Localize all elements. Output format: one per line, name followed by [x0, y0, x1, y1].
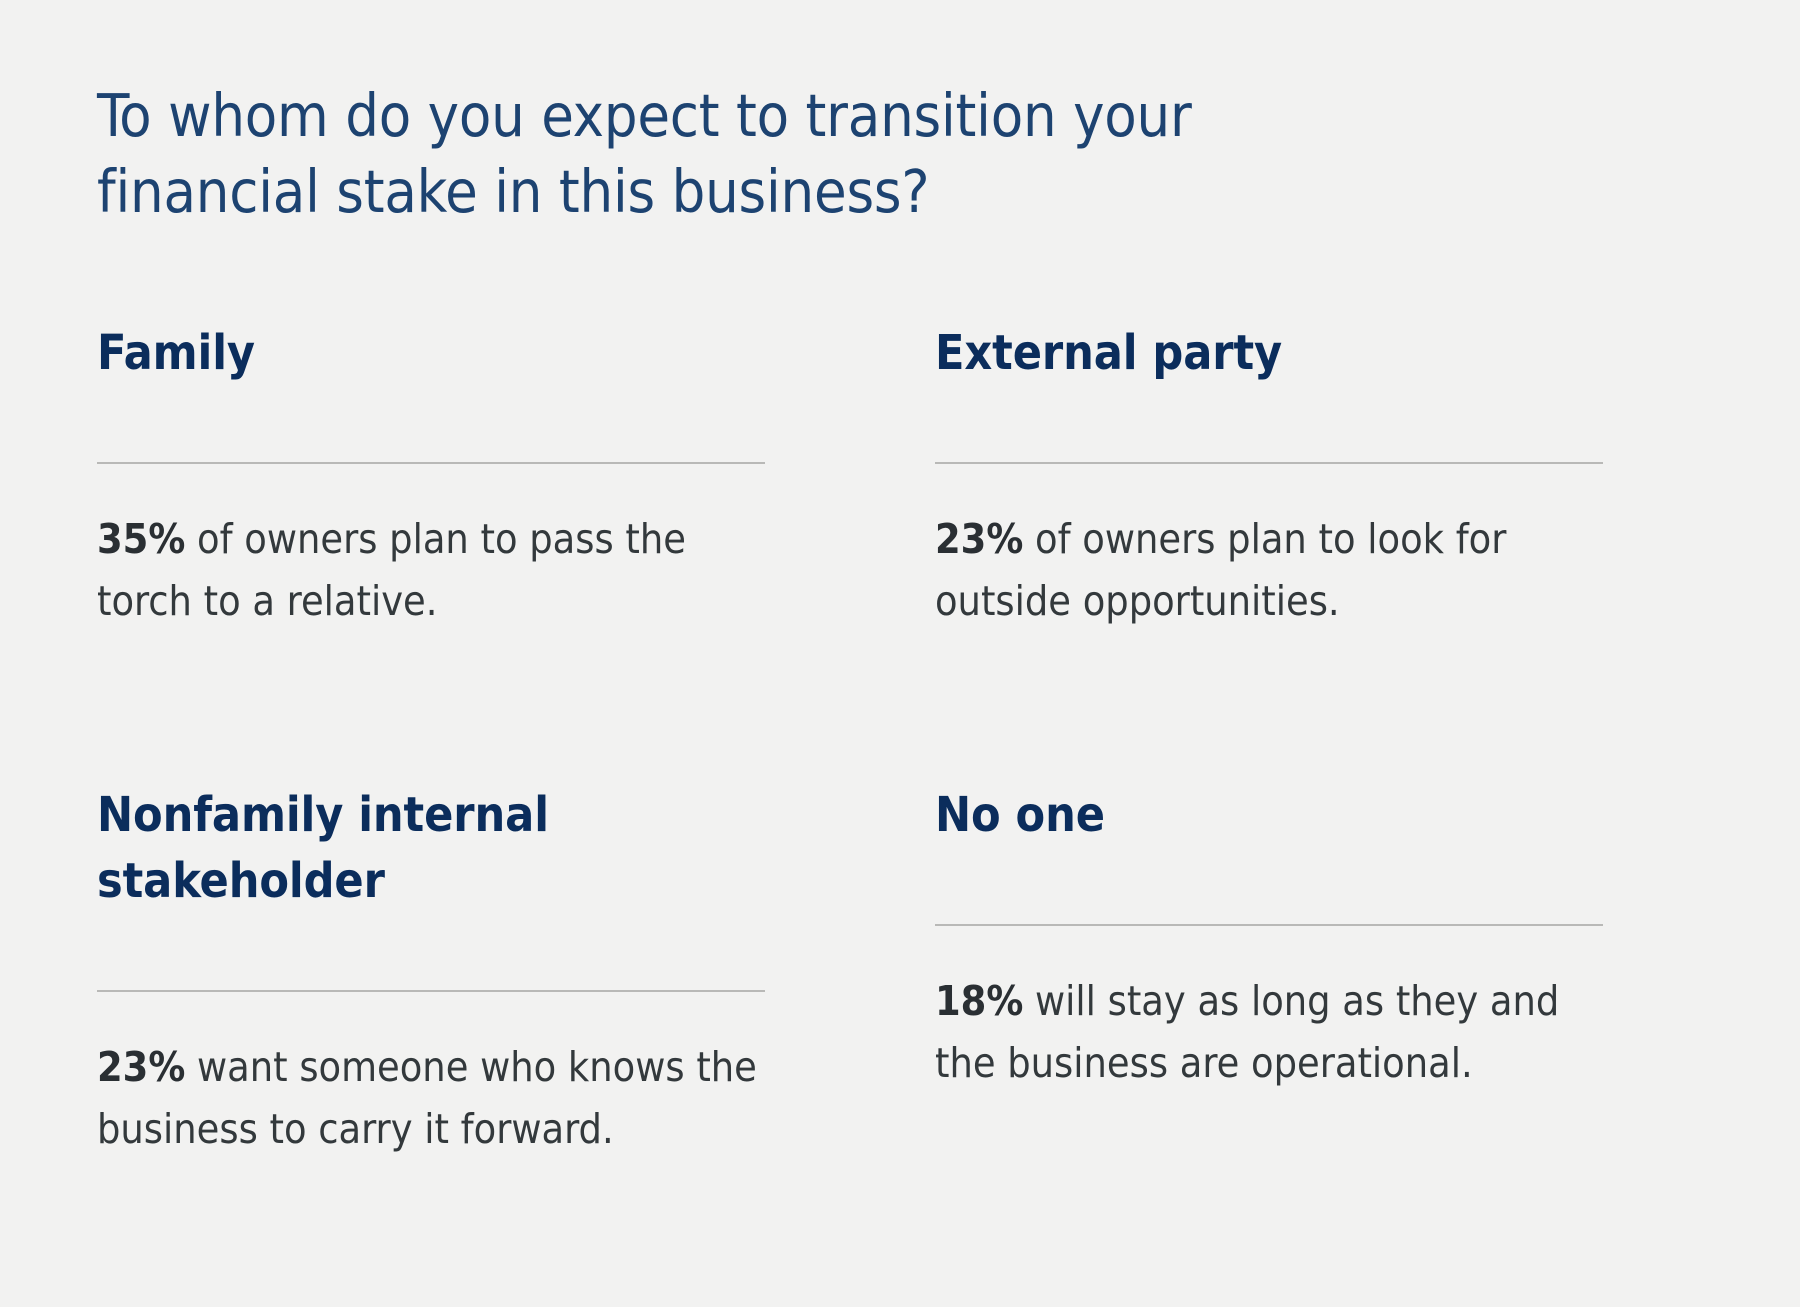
- stat-card-body: 18% will stay as long as they and the bu…: [935, 970, 1603, 1094]
- divider-rule: [97, 990, 765, 992]
- stat-percent: 23%: [97, 1043, 185, 1091]
- stat-card-heading: No one: [935, 782, 1603, 848]
- divider-rule: [935, 924, 1603, 926]
- stat-card-body: 23% want someone who knows the business …: [97, 1036, 765, 1160]
- stat-card-heading: Family: [97, 320, 765, 386]
- stat-card-external-party: External party 23% of owners plan to loo…: [935, 320, 1603, 632]
- stat-description: want someone who knows the business to c…: [97, 1043, 757, 1153]
- stat-card-family: Family 35% of owners plan to pass the to…: [97, 320, 765, 632]
- stat-description: of owners plan to pass the torch to a re…: [97, 515, 686, 625]
- stat-card-body: 23% of owners plan to look for outside o…: [935, 508, 1603, 632]
- divider-rule: [97, 462, 765, 464]
- page-title: To whom do you expect to transition your…: [97, 78, 1217, 230]
- stat-card-grid: Family 35% of owners plan to pass the to…: [97, 320, 1717, 1160]
- divider-rule: [935, 462, 1603, 464]
- stat-description: will stay as long as they and the busine…: [935, 977, 1559, 1087]
- stat-card-heading: Nonfamily internal stakeholder: [97, 782, 765, 914]
- stat-card-no-one: No one 18% will stay as long as they and…: [935, 782, 1603, 1160]
- stat-card-nonfamily-internal-stakeholder: Nonfamily internal stakeholder 23% want …: [97, 782, 765, 1160]
- title-block: To whom do you expect to transition your…: [97, 78, 1397, 230]
- stat-percent: 23%: [935, 515, 1023, 563]
- infographic-poster: To whom do you expect to transition your…: [0, 0, 1800, 1307]
- stat-card-body: 35% of owners plan to pass the torch to …: [97, 508, 765, 632]
- stat-percent: 18%: [935, 977, 1023, 1025]
- stat-card-heading: External party: [935, 320, 1603, 386]
- stat-percent: 35%: [97, 515, 185, 563]
